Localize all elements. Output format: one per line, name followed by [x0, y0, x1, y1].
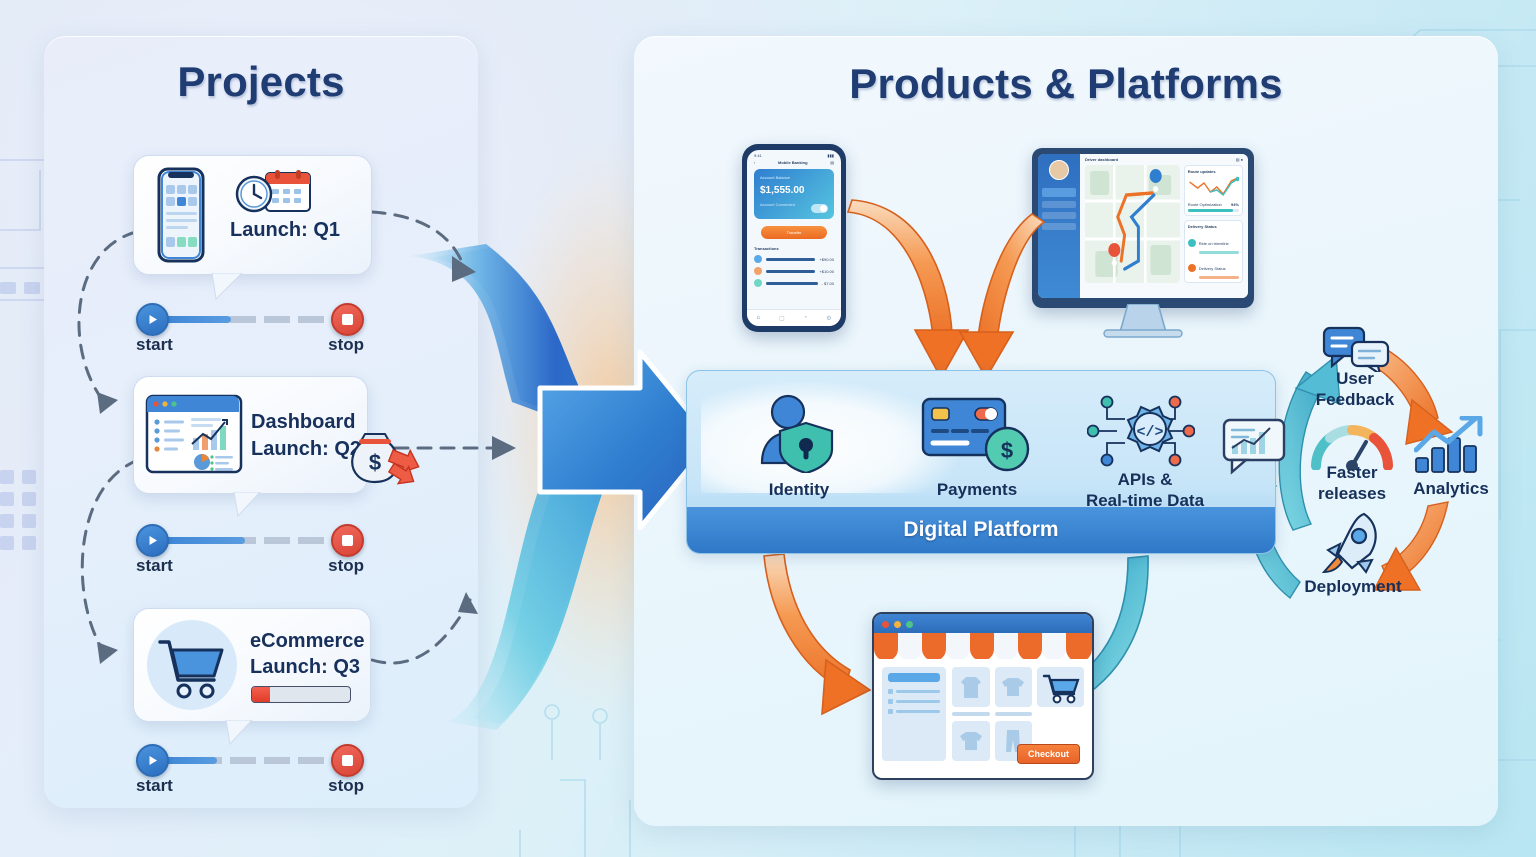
api-gear-nodes-icon: </>	[1087, 389, 1195, 473]
cycle-label-analytics: Analytics	[1396, 478, 1506, 499]
identity-shield-icon	[744, 389, 854, 473]
cycle-label-faster-releases: Faster releases	[1294, 462, 1410, 504]
cycle-label-user-feedback: User Feedback	[1300, 368, 1410, 410]
shop-cart-icon	[1040, 670, 1082, 704]
shop-title-bar	[874, 614, 1092, 634]
digital-platform-label: Digital Platform	[903, 518, 1058, 542]
product-tile	[952, 667, 990, 707]
cycle-label-deployment: Deployment	[1296, 576, 1410, 597]
platform-item-identity-label: Identity	[701, 479, 897, 500]
checkout-button[interactable]: Checkout	[1017, 744, 1080, 764]
platform-item-payments-label: Payments	[879, 479, 1075, 500]
credit-card-coin-icon: $	[919, 393, 1035, 475]
shop-maximize-dot[interactable]	[906, 621, 913, 628]
shop-minimize-dot[interactable]	[894, 621, 901, 628]
ecommerce-storefront-mock[interactable]: Checkout	[872, 612, 1094, 780]
shop-cart-tile[interactable]	[1037, 667, 1084, 707]
infographic-canvas: Projects Products & Platforms	[0, 0, 1536, 857]
platform-item-apis-label: APIs & Real-time Data	[1047, 469, 1243, 511]
chat-bubbles-icon	[1322, 326, 1392, 372]
svg-text:</>: </>	[1136, 424, 1163, 441]
shop-awning	[874, 633, 1094, 659]
product-tile	[952, 721, 990, 761]
digital-platform-bar: Digital Platform	[687, 507, 1275, 553]
shop-filter-sidebar[interactable]	[882, 667, 946, 761]
shop-close-dot[interactable]	[882, 621, 889, 628]
product-tile	[995, 667, 1033, 707]
digital-platform-strip[interactable]: Identity $ Payments	[686, 370, 1276, 554]
bar-chart-arrow-icon	[1414, 416, 1488, 474]
svg-text:$: $	[1001, 438, 1013, 463]
rocket-icon	[1318, 510, 1388, 576]
feedback-chart-bubble-icon	[1222, 418, 1288, 476]
shop-window: Checkout	[872, 612, 1094, 780]
